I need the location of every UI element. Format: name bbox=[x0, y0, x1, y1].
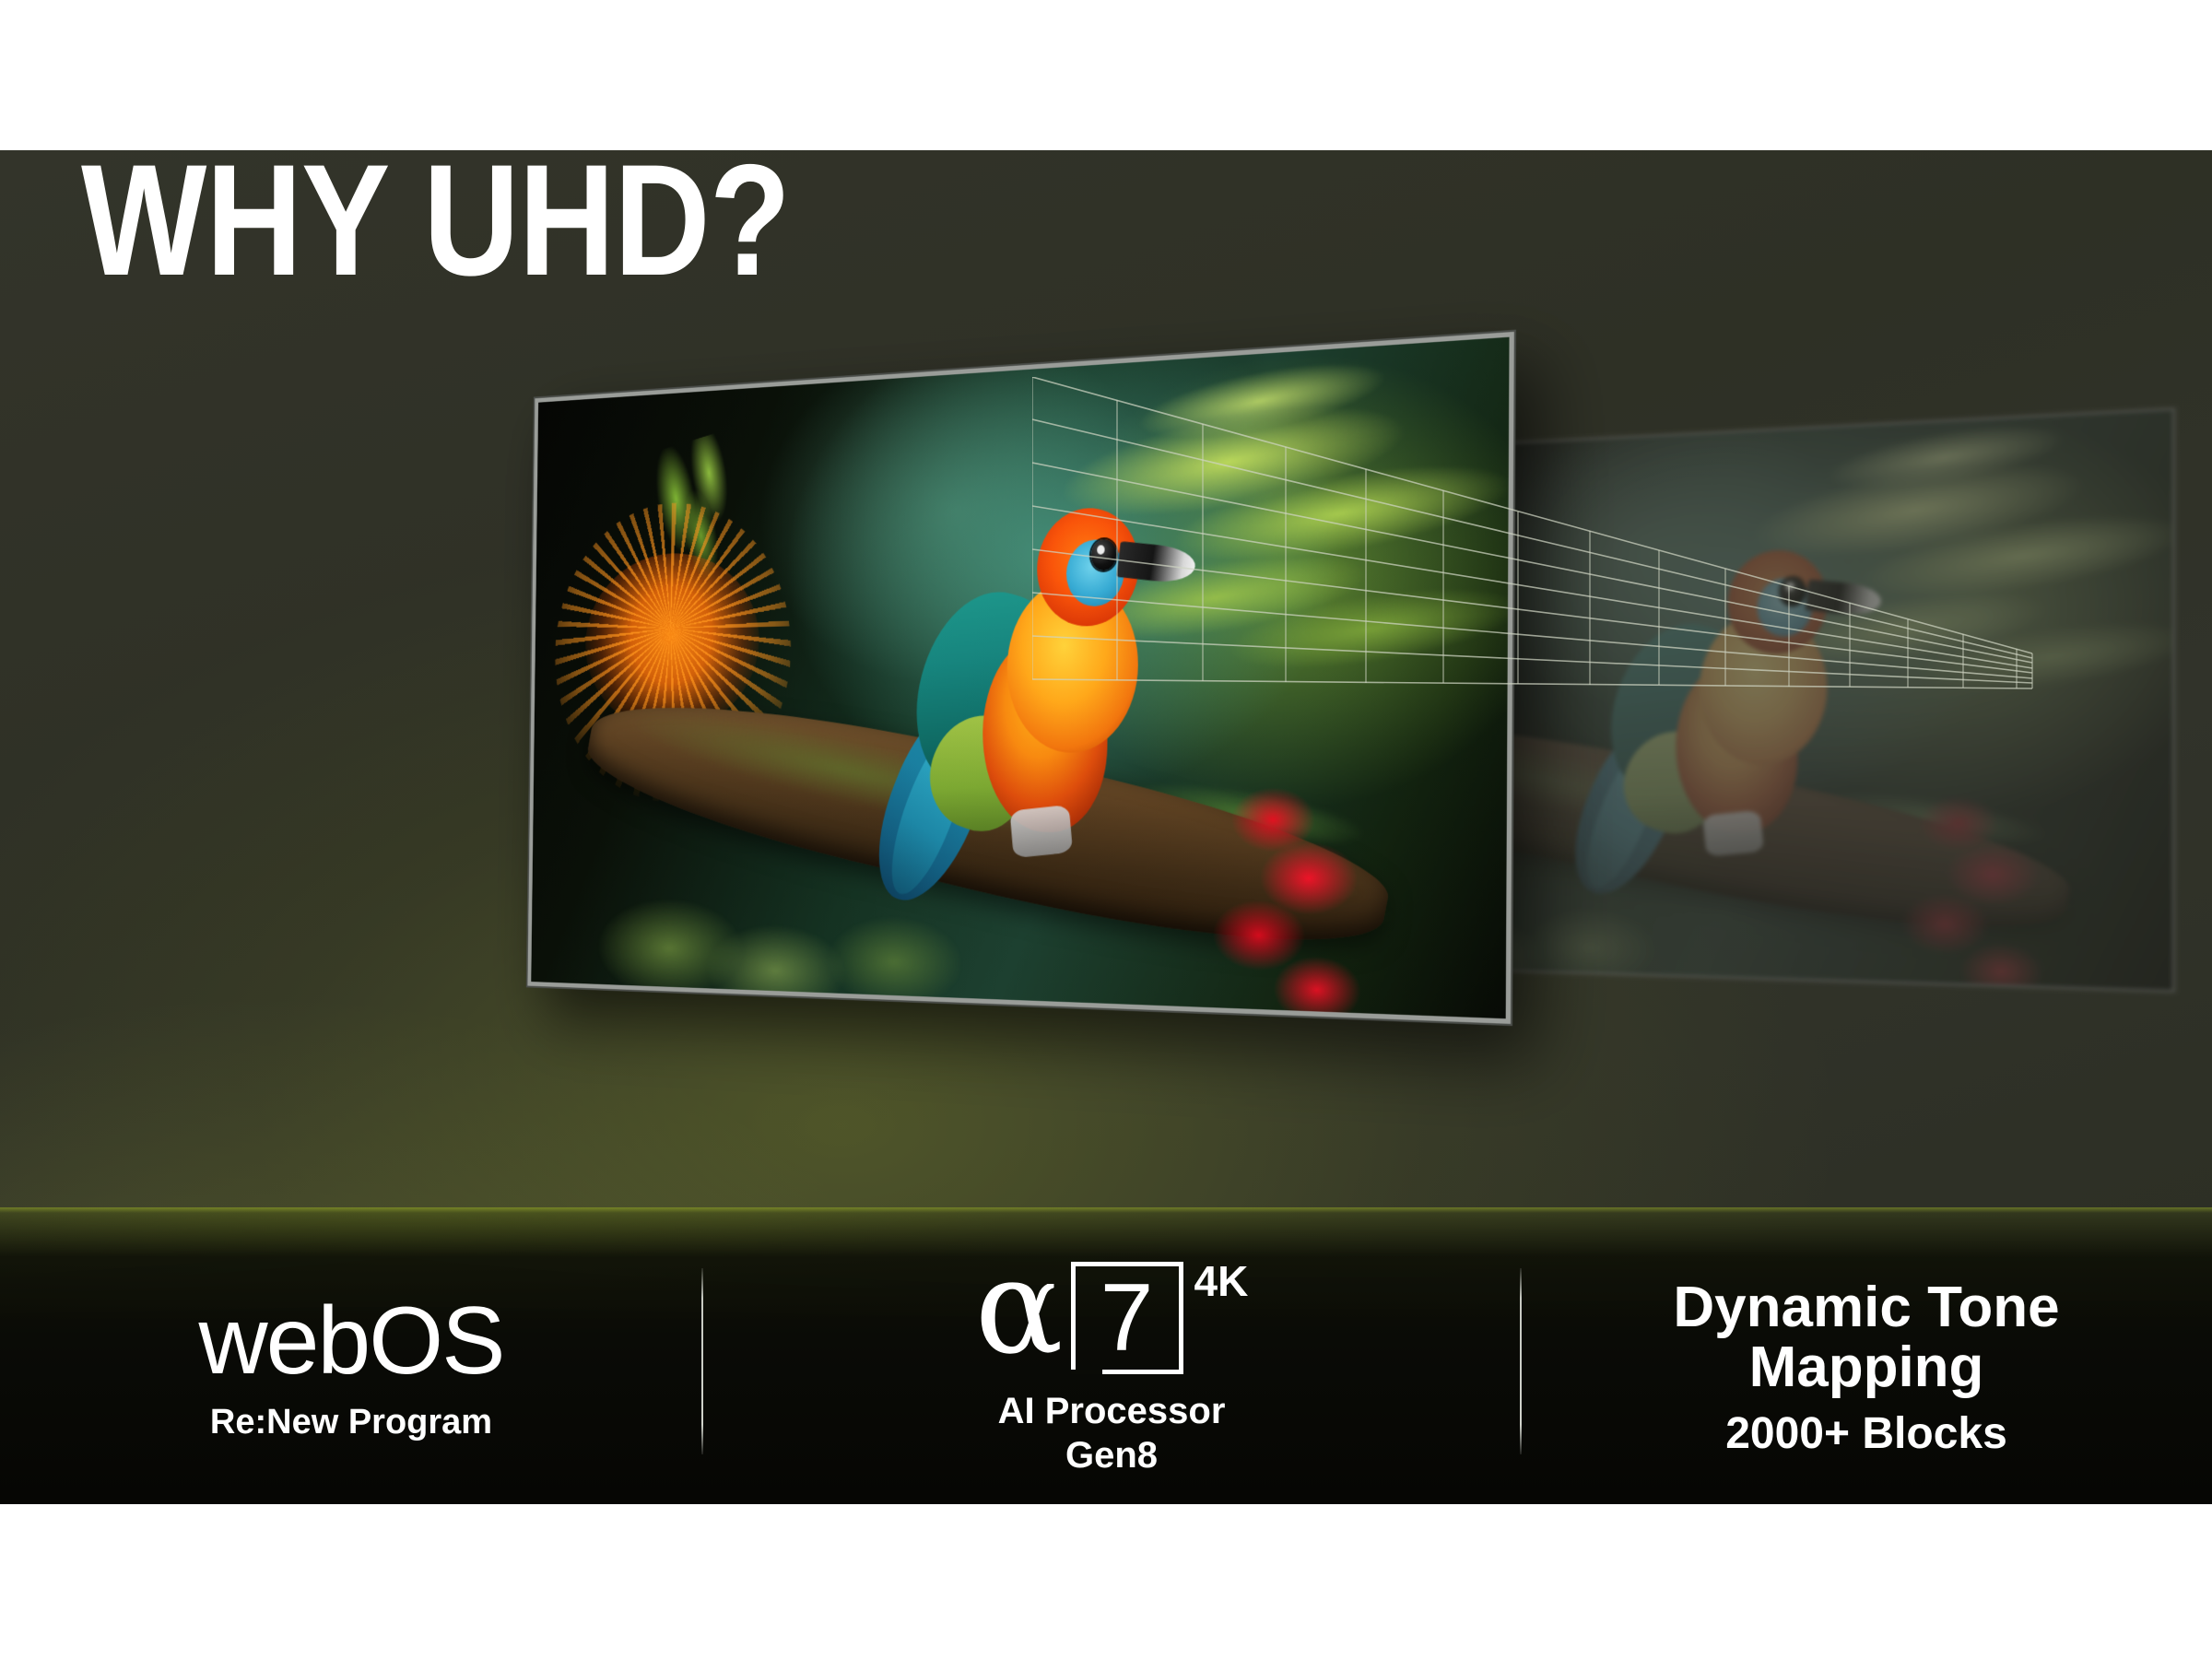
television bbox=[527, 332, 1513, 1024]
bird-belly bbox=[982, 634, 1109, 832]
ai-processor-label: AI Processor bbox=[702, 1389, 1521, 1433]
bird-head bbox=[1037, 506, 1140, 628]
webos-logo-web: web bbox=[198, 1288, 369, 1394]
feature-bar: webOS Re:New Program α 7 4K AI Processor… bbox=[0, 1207, 2212, 1504]
processor-number: 7 bbox=[1076, 1270, 1179, 1366]
lower-fern bbox=[1065, 722, 1453, 1015]
bird-feet bbox=[1009, 805, 1072, 858]
feature-divider-1 bbox=[701, 1268, 703, 1454]
resolution-badge: 4K bbox=[1194, 1260, 1249, 1302]
bird-illustration bbox=[1581, 533, 1869, 884]
tv-bezel bbox=[527, 332, 1513, 1024]
bird-breast bbox=[1006, 577, 1139, 753]
tv-screen bbox=[531, 337, 1509, 1019]
alpha7-logo: α 7 4K bbox=[702, 1258, 1521, 1380]
alpha-symbol-icon: α bbox=[975, 1253, 1064, 1362]
processor-number-frame: 7 bbox=[1071, 1262, 1183, 1374]
low-bush bbox=[598, 866, 1019, 1018]
red-flowers bbox=[1868, 782, 2086, 992]
webos-subtitle: Re:New Program bbox=[0, 1402, 702, 1443]
dtm-title-line-1: Dynamic Tone bbox=[1521, 1277, 2212, 1339]
bird-beak bbox=[1116, 541, 1196, 584]
fern-leaves bbox=[1043, 337, 1510, 788]
bird-feet bbox=[1702, 810, 1764, 857]
feature-webos[interactable]: webOS Re:New Program bbox=[0, 1293, 702, 1443]
feature-list: webOS Re:New Program α 7 4K AI Processor… bbox=[0, 1207, 2212, 1504]
ai-processor-generation: Gen8 bbox=[702, 1433, 1521, 1477]
webos-logo-os: OS bbox=[369, 1288, 503, 1394]
bird-eye bbox=[1090, 538, 1116, 571]
dtm-title-line-2: Mapping bbox=[1521, 1337, 2212, 1399]
slide-canvas: WHY UHD? bbox=[0, 150, 2212, 1504]
feature-dynamic-tone-mapping[interactable]: Dynamic Tone Mapping 2000+ Blocks bbox=[1521, 1277, 2212, 1459]
red-flowers bbox=[1179, 772, 1406, 1018]
bird-illustration bbox=[885, 488, 1183, 888]
webos-logo: webOS bbox=[0, 1293, 702, 1389]
feature-ai-processor[interactable]: α 7 4K AI Processor Gen8 bbox=[702, 1258, 1521, 1477]
feature-divider-2 bbox=[1520, 1268, 1522, 1454]
dtm-subtitle: 2000+ Blocks bbox=[1521, 1410, 2212, 1459]
bird-cheek bbox=[1066, 538, 1124, 607]
